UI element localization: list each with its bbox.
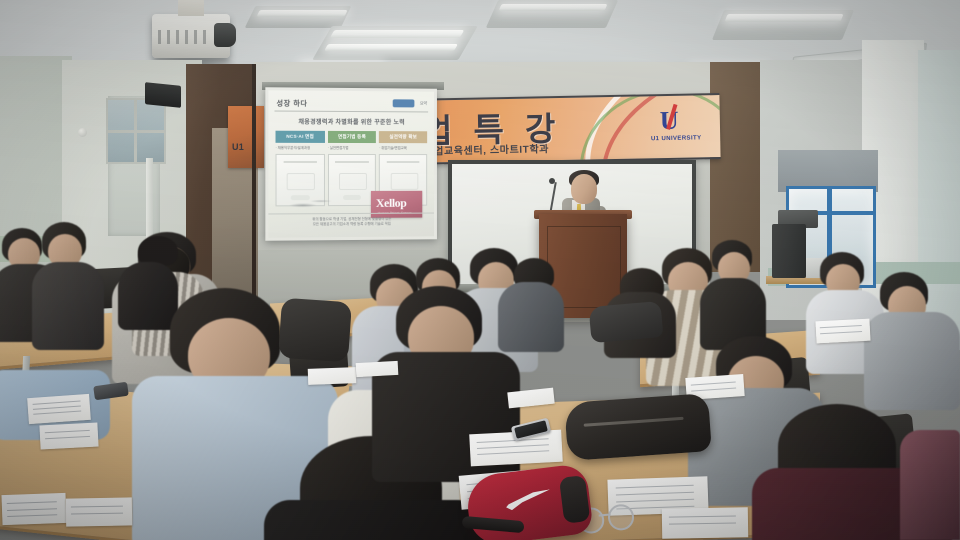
slide-column-note: · 취업기술/면접교육 (379, 145, 427, 153)
slide-column-note: · 채용직무분석/설계과정 (276, 145, 325, 153)
handout-paper (39, 422, 98, 449)
handout-paper (66, 497, 132, 526)
ceiling-light-strip (256, 10, 347, 17)
computer-tower-icon (772, 224, 806, 278)
slide-badge-note: 요약 (420, 101, 427, 107)
black-bag (278, 298, 352, 363)
ceiling-projector-icon (152, 14, 230, 58)
handout-paper (308, 367, 357, 385)
handout-paper (662, 507, 749, 538)
projection-screen: 성장 하다 요약 채용경쟁력과 차별화를 위한 꾸준한 노력 NCS·AI 면접… (265, 87, 437, 241)
slide-column-notes: · 채용직무분석/설계과정 · 실전면접기법 · 취업기술/면접교육 (276, 145, 428, 153)
handout-paper (815, 319, 870, 344)
slide-footer-line: 모든 채용공고의 기업소개 역량 등록 수행에 기술로 적립 (313, 222, 391, 227)
handout-paper (356, 361, 399, 377)
slide-column-note: · 실전면접기법 (328, 145, 377, 153)
microphone-icon (549, 178, 555, 184)
nike-swoosh-icon (505, 489, 553, 511)
slide-divider (274, 111, 428, 113)
slide-column-headers: NCS·AI 면접 면접기법 등록 실전역량 확보 (276, 131, 428, 143)
slide-title: 성장 하다 (277, 98, 308, 108)
xellop-logo-text: Xellop (376, 196, 407, 211)
ceiling-light-strip (724, 14, 843, 22)
slide-footer-line: 위의 활동으로 학생 기업, 공채전형 전형에 맞춤형이 있는 (312, 217, 391, 222)
u1-university-logo: U U1 UNIVERSITY (648, 105, 705, 150)
lecture-hall-photo: U1 업 특 강 산업교육센터, 스마트IT학과 U U1 UNIVERSITY… (0, 0, 960, 540)
slide-column-header: NCS·AI 면접 (276, 131, 325, 143)
black-bag (589, 301, 664, 343)
slide-column-header: 면접기법 등록 (328, 131, 377, 143)
speaker-head (571, 174, 597, 204)
slide-column-header: 실전역량 확보 (379, 131, 427, 143)
wall-fixture (78, 128, 87, 137)
slide-footer: 위의 활동으로 학생 기업, 공채전형 전형에 맞춤형이 있는 모든 채용공고의… (268, 216, 434, 227)
banner-subtitle: 산업교육센터, 스마트IT학과 (424, 140, 549, 157)
ceiling-light-strip (498, 4, 607, 11)
u1-poster-brand: U1 (232, 142, 244, 152)
u1-wall-poster: U1 (228, 106, 264, 168)
presentation-slide: 성장 하다 요약 채용경쟁력과 차별화를 위한 꾸준한 노력 NCS·AI 면접… (268, 90, 434, 237)
slide-badge (393, 99, 415, 107)
ceiling-light-strip (330, 30, 465, 38)
wall-speaker-icon (145, 82, 181, 108)
ceiling-light-strip (324, 44, 458, 51)
side-window (106, 98, 166, 164)
black-backpack (564, 393, 712, 461)
column-edge (252, 64, 256, 310)
handout-paper (27, 394, 91, 424)
slide-subtitle: 채용경쟁력과 차별화를 위한 꾸준한 노력 (268, 117, 434, 127)
handout-paper (1, 493, 66, 525)
logo-label: U1 UNIVERSITY (648, 135, 704, 142)
event-banner: 업 특 강 산업교육센터, 스마트IT학과 U U1 UNIVERSITY (401, 93, 720, 165)
